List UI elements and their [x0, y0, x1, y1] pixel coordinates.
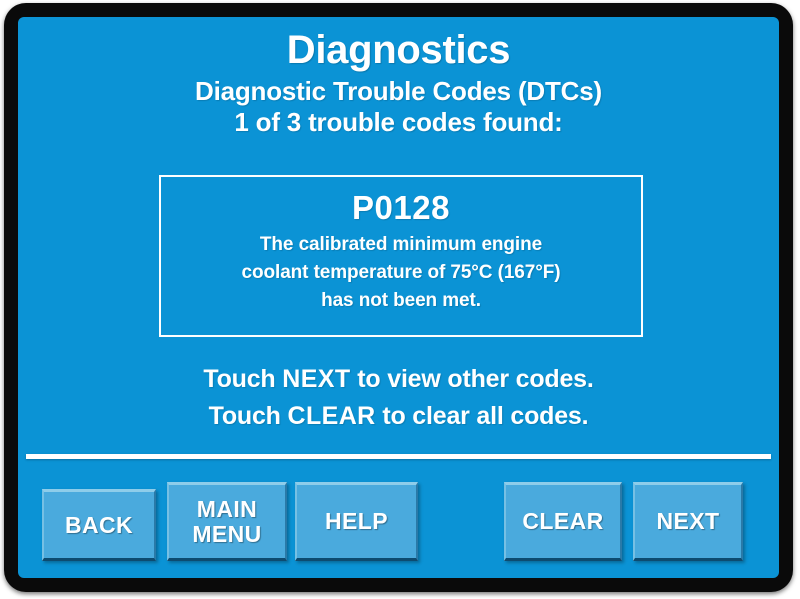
dtc-description-line-1: The calibrated minimum engine	[161, 227, 641, 259]
dtc-description-line-2: coolant temperature of 75°C (167°F)	[161, 259, 641, 287]
dtc-description-line-3: has not been met.	[161, 287, 641, 315]
instruction-clear-emphasis: CLEAR	[288, 402, 376, 430]
main-menu-button-label-line1: MAIN	[192, 497, 261, 522]
instruction-next-suffix: to view other codes.	[351, 365, 594, 393]
instruction-clear-prefix: Touch	[209, 402, 288, 430]
back-button-label: BACK	[65, 513, 133, 538]
dtc-code: P0128	[161, 177, 641, 227]
clear-button[interactable]: CLEAR	[504, 482, 622, 561]
subtitle-dtc-label: Diagnostic Trouble Codes (DTCs)	[18, 73, 779, 107]
horizontal-divider	[26, 454, 771, 459]
clear-button-label: CLEAR	[522, 509, 603, 534]
diagnostics-screen: Diagnostics Diagnostic Trouble Codes (DT…	[18, 17, 779, 578]
screen-header: Diagnostics Diagnostic Trouble Codes (DT…	[18, 17, 779, 138]
main-menu-button[interactable]: MAIN MENU	[167, 482, 287, 561]
main-menu-button-label: MAIN MENU	[192, 497, 261, 547]
next-button[interactable]: NEXT	[633, 482, 743, 561]
main-menu-button-label-line2: MENU	[192, 522, 261, 547]
next-button-label: NEXT	[657, 509, 720, 534]
instruction-next-prefix: Touch	[203, 365, 282, 393]
instruction-next-emphasis: NEXT	[282, 365, 350, 393]
back-button[interactable]: BACK	[42, 489, 156, 561]
instruction-next: Touch NEXT to view other codes.	[18, 361, 779, 398]
help-button-label: HELP	[325, 509, 388, 534]
softkey-button-bar: BACK MAIN MENU HELP CLEAR NEXT	[18, 465, 779, 578]
subtitle-code-count: 1 of 3 trouble codes found:	[18, 107, 779, 138]
device-bezel: Diagnostics Diagnostic Trouble Codes (DT…	[4, 3, 793, 592]
instructions: Touch NEXT to view other codes. Touch CL…	[18, 361, 779, 435]
help-button[interactable]: HELP	[295, 482, 418, 561]
instruction-clear: Touch CLEAR to clear all codes.	[18, 398, 779, 435]
page-title: Diagnostics	[18, 17, 779, 73]
dtc-detail-box: P0128 The calibrated minimum engine cool…	[159, 175, 643, 337]
instruction-clear-suffix: to clear all codes.	[376, 402, 589, 430]
